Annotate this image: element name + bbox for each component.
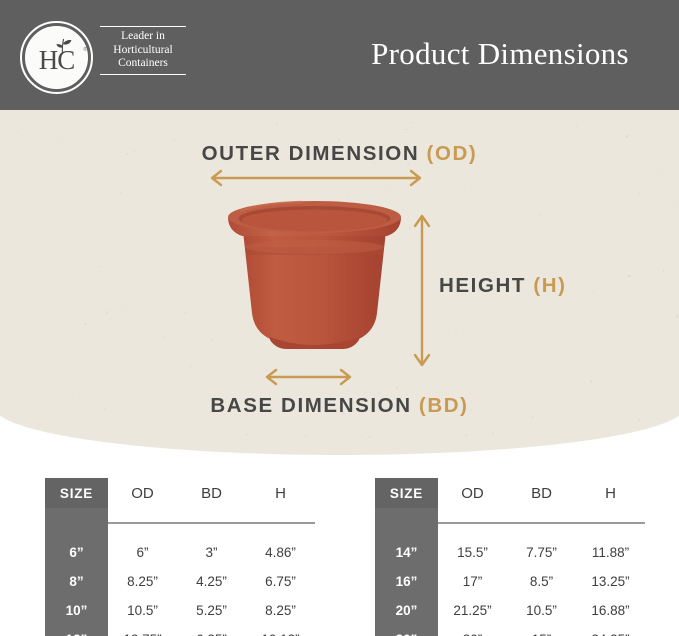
cell-bd: 8.5” [507, 567, 576, 596]
cell-bd: 15” [507, 625, 576, 636]
cell-od: 8.25” [108, 567, 177, 596]
table-row: 6” 6” 3” 4.86” [45, 538, 315, 567]
cell-size: 6” [45, 538, 108, 567]
cell-size: 12” [45, 625, 108, 636]
tagline-line-2: Horticultural [100, 44, 186, 58]
cell-size: 20” [375, 596, 438, 625]
column-header-bd: BD [507, 478, 576, 508]
base-dimension-label: BASE DIMENSION (BD) [0, 394, 679, 418]
cell-od: 30” [438, 625, 507, 636]
column-header-h: H [576, 478, 645, 508]
brand-logo: HC ® [20, 21, 95, 96]
table-header-row: SIZE OD BD H [45, 478, 315, 508]
trademark-icon: ® [83, 47, 87, 53]
cell-size: 14” [375, 538, 438, 567]
tagline-line-1: Leader in [100, 30, 186, 44]
table-row: 14” 15.5” 7.75” 11.88” [375, 538, 645, 567]
brand-tagline: Leader in Horticultural Containers [100, 26, 186, 75]
cell-h: 16.88” [576, 596, 645, 625]
table-header-rule-row [45, 508, 315, 538]
cell-size: 30” [375, 625, 438, 636]
cell-h: 8.25” [246, 596, 315, 625]
outer-dimension-label: OUTER DIMENSION (OD) [0, 142, 679, 166]
size-table-small-grid: SIZE OD BD H 6” 6” 3” 4.86” 8” [45, 478, 315, 636]
page-title: Product Dimensions [330, 36, 670, 72]
cell-od: 6” [108, 538, 177, 567]
column-header-size: SIZE [45, 478, 108, 508]
column-header-od: OD [108, 478, 177, 508]
base-dimension-text: BASE DIMENSION [210, 394, 411, 417]
horizontal-double-arrow-od [207, 169, 425, 187]
height-text: HEIGHT [439, 274, 526, 297]
cell-bd: 6.25” [177, 625, 246, 636]
cell-bd: 7.75” [507, 538, 576, 567]
header-rule [108, 522, 315, 523]
cell-od: 12.75” [108, 625, 177, 636]
table-header-row: SIZE OD BD H [375, 478, 645, 508]
table-row: 20” 21.25” 10.5” 16.88” [375, 596, 645, 625]
cell-h: 11.88” [576, 538, 645, 567]
table-row: 10” 10.5” 5.25” 8.25” [45, 596, 315, 625]
cell-size: 8” [45, 567, 108, 596]
cell-od: 10.5” [108, 596, 177, 625]
product-dimensions-infographic: HC ® Leader in Horticultural Containers … [0, 0, 679, 636]
column-header-size: SIZE [375, 478, 438, 508]
cell-h: 13.25” [576, 567, 645, 596]
column-header-h: H [246, 478, 315, 508]
cell-od: 15.5” [438, 538, 507, 567]
header-bar: HC ® Leader in Horticultural Containers … [0, 0, 679, 110]
column-header-bd: BD [177, 478, 246, 508]
height-abbr: (H) [533, 274, 566, 297]
cell-bd: 3” [177, 538, 246, 567]
header-rule [438, 522, 645, 523]
diagram-panel: OUTER DIMENSION (OD) [0, 110, 679, 455]
size-table-large-grid: SIZE OD BD H 14” 15.5” 7.75” 11.88” [375, 478, 645, 636]
cell-size: 16” [375, 567, 438, 596]
terracotta-planter-pot [222, 197, 407, 372]
size-table-small: SIZE OD BD H 6” 6” 3” 4.86” 8” [45, 478, 315, 636]
leaf-sprout-icon [53, 38, 73, 60]
cell-h: 4.86” [246, 538, 315, 567]
height-label: HEIGHT (H) [439, 274, 567, 298]
table-row: 8” 8.25” 4.25” 6.75” [45, 567, 315, 596]
cell-h: 24.25” [576, 625, 645, 636]
cell-bd: 10.5” [507, 596, 576, 625]
column-header-od: OD [438, 478, 507, 508]
cell-od: 17” [438, 567, 507, 596]
table-row: 16” 17” 8.5” 13.25” [375, 567, 645, 596]
cell-size: 10” [45, 596, 108, 625]
table-header-rule-row [375, 508, 645, 538]
cell-h: 10.13” [246, 625, 315, 636]
cell-od: 21.25” [438, 596, 507, 625]
outer-dimension-text: OUTER DIMENSION [202, 142, 420, 165]
cell-h: 6.75” [246, 567, 315, 596]
tagline-rule-bottom [100, 74, 186, 75]
table-row: 30” 30” 15” 24.25” [375, 625, 645, 636]
vertical-double-arrow-h [413, 212, 431, 369]
outer-dimension-abbr: (OD) [427, 142, 478, 165]
tagline-line-3: Containers [100, 57, 186, 71]
horizontal-double-arrow-bd [262, 368, 355, 386]
size-table-large: SIZE OD BD H 14” 15.5” 7.75” 11.88” [375, 478, 645, 636]
cell-bd: 5.25” [177, 596, 246, 625]
table-row: 12” 12.75” 6.25” 10.13” [45, 625, 315, 636]
cell-bd: 4.25” [177, 567, 246, 596]
base-dimension-abbr: (BD) [419, 394, 469, 417]
